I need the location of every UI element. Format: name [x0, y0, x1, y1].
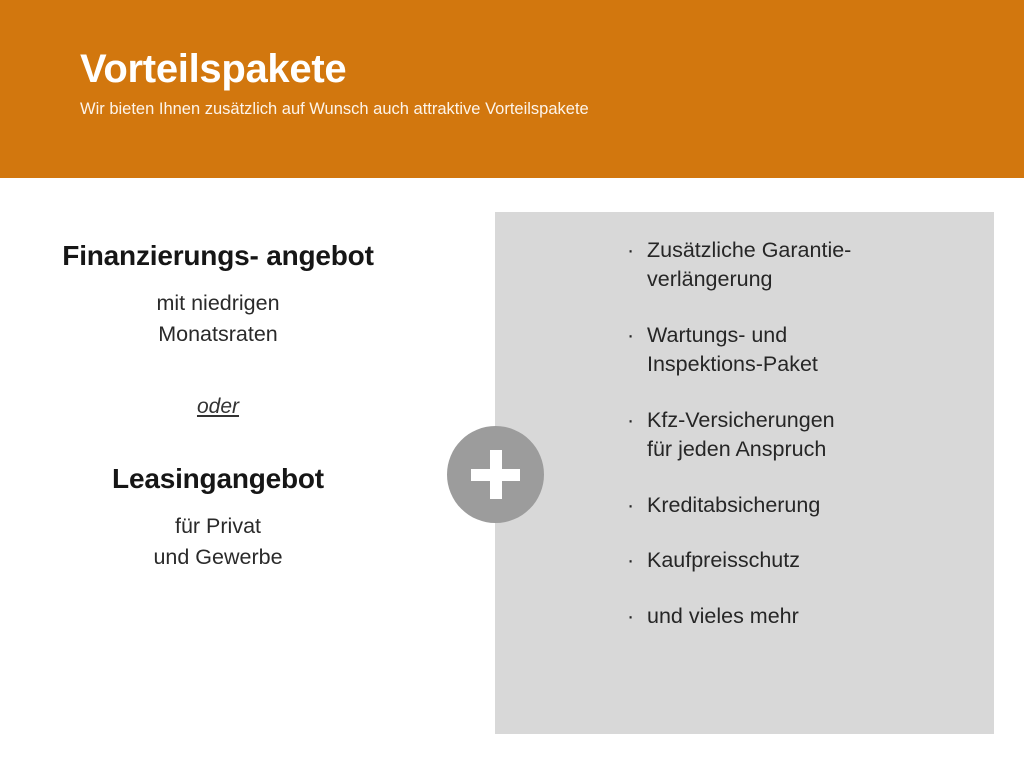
benefits-list: · Zusätzliche Garantie- verlängerung · W…	[625, 236, 965, 631]
leasing-offer-title: Leasingangebot	[48, 461, 388, 497]
page-subtitle: Wir bieten Ihnen zusätzlich auf Wunsch a…	[80, 99, 984, 120]
header-band: Vorteilspakete Wir bieten Ihnen zusätzli…	[0, 0, 1024, 178]
list-item: · Wartungs- und Inspektions-Paket	[625, 321, 965, 380]
financing-offer-block: Finanzierungs- angebot mit niedrigen Mon…	[48, 238, 388, 350]
list-item-line2: für jeden Anspruch	[647, 435, 965, 464]
list-item-line1: Zusätzliche Garantie-	[647, 236, 965, 265]
financing-offer-subtext: mit niedrigen Monatsraten	[48, 288, 388, 350]
financing-offer-subtext-line1: mit niedrigen	[48, 288, 388, 319]
offer-connector-label: oder	[197, 395, 239, 418]
page-title: Vorteilspakete	[80, 48, 984, 90]
list-item-line1: und vieles mehr	[647, 602, 965, 631]
leasing-offer-title-line1: Leasingangebot	[112, 463, 324, 494]
list-item-line1: Wartungs- und	[647, 321, 965, 350]
bullet-icon: ·	[627, 406, 634, 435]
bullet-icon: ·	[627, 602, 634, 631]
list-item-line2: verlängerung	[647, 265, 965, 294]
financing-offer-subtext-line2: Monatsraten	[48, 319, 388, 350]
bullet-icon: ·	[627, 236, 634, 265]
offer-connector: oder	[48, 394, 388, 419]
bullet-icon: ·	[627, 546, 634, 575]
list-item: · und vieles mehr	[625, 602, 965, 631]
financing-offer-title: Finanzierungs- angebot	[48, 238, 388, 274]
leasing-offer-subtext-line1: für Privat	[48, 511, 388, 542]
leasing-offer-block: Leasingangebot für Privat und Gewerbe	[48, 461, 388, 573]
body-area: Finanzierungs- angebot mit niedrigen Mon…	[0, 178, 1024, 768]
list-item-line1: Kaufpreisschutz	[647, 546, 965, 575]
list-item: · Kreditabsicherung	[625, 491, 965, 520]
list-item: · Kaufpreisschutz	[625, 546, 965, 575]
leasing-offer-subtext: für Privat und Gewerbe	[48, 511, 388, 573]
benefits-panel: · Zusätzliche Garantie- verlängerung · W…	[495, 212, 994, 734]
list-item-line1: Kfz-Versicherungen	[647, 406, 965, 435]
financing-offer-title-line2: angebot	[266, 240, 373, 271]
plus-icon-vertical-bar	[490, 450, 502, 499]
list-item: · Kfz-Versicherungen für jeden Anspruch	[625, 406, 965, 465]
list-item-line1: Kreditabsicherung	[647, 491, 965, 520]
plus-icon	[447, 426, 544, 523]
list-item-line2: Inspektions-Paket	[647, 350, 965, 379]
bullet-icon: ·	[627, 321, 634, 350]
list-item: · Zusätzliche Garantie- verlängerung	[625, 236, 965, 295]
bullet-icon: ·	[627, 491, 634, 520]
header-text-block: Vorteilspakete Wir bieten Ihnen zusätzli…	[80, 48, 984, 120]
offers-column: Finanzierungs- angebot mit niedrigen Mon…	[48, 238, 388, 574]
leasing-offer-subtext-line2: und Gewerbe	[48, 542, 388, 573]
slide-root: Vorteilspakete Wir bieten Ihnen zusätzli…	[0, 0, 1024, 768]
financing-offer-title-line1: Finanzierungs-	[62, 240, 258, 271]
